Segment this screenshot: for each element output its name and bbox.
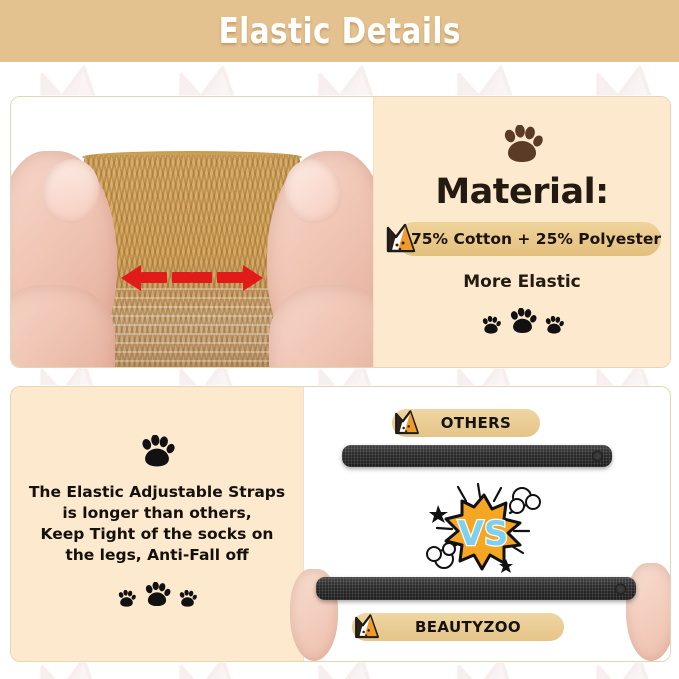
material-composition-row: 75% Cotton + 25% Polyester [383,222,661,256]
material-info-pane: Material: 75% Cotton + 25% Polyester Mor… [374,97,670,367]
stretch-dash [141,272,167,283]
description-line: Keep Tight of the socks on [29,524,285,545]
vs-badge-icon: VS [424,483,544,579]
dog-head-icon [352,612,388,648]
stretch-dash [197,272,212,283]
more-elastic-label: More Elastic [463,272,581,292]
dog-head-icon [392,408,428,444]
stretch-dash [183,272,192,283]
paw-print-icon [117,590,136,613]
sock-stretch-photo [11,97,373,367]
others-label-pill: OTHERS [392,409,540,437]
strap-description-text: The Elastic Adjustable Straps is longer … [29,482,285,566]
description-line: The Elastic Adjustable Straps [29,482,285,503]
stretch-arrows-group [11,263,373,291]
description-line: the legs, Anti-Fall off [29,545,285,566]
card-strap-comparison: The Elastic Adjustable Straps is longer … [10,386,671,662]
paw-print-icon [143,582,171,613]
material-composition-pill: 75% Cotton + 25% Polyester [397,222,661,256]
strap-description-pane: The Elastic Adjustable Straps is longer … [11,387,303,661]
stretch-arrow-left-icon [121,265,141,291]
stretch-arrow-right-icon [243,265,263,291]
paw-print-icon [481,316,501,340]
page-title: Elastic Details [218,11,460,52]
paw-print-icon [139,435,175,474]
material-heading: Material: [435,172,608,212]
paw-print-icon [178,590,197,613]
others-label-text: OTHERS [421,414,512,432]
dog-head-icon [383,221,419,257]
stretch-dash [217,272,243,283]
beautyzoo-strap-long [316,577,636,600]
paw-decoration-row [481,308,564,340]
svg-text:VS: VS [458,514,509,554]
paw-print-icon [544,316,564,340]
header-band: Elastic Details [0,0,679,62]
strap-comparison-photo: OTHERS [304,387,670,661]
card-elastic-material: Material: 75% Cotton + 25% Polyester Mor… [10,96,671,368]
paw-print-icon [508,308,537,340]
description-line: is longer than others, [29,503,285,524]
beautyzoo-label-pill: BEAUTYZOO [352,613,564,641]
paw-print-icon [501,125,543,170]
beautyzoo-label-text: BEAUTYZOO [395,618,521,636]
right-hand-grip [626,563,671,661]
paw-decoration-row [117,582,197,613]
material-composition-text: 75% Cotton + 25% Polyester [397,230,661,248]
others-strap-short [342,445,612,467]
